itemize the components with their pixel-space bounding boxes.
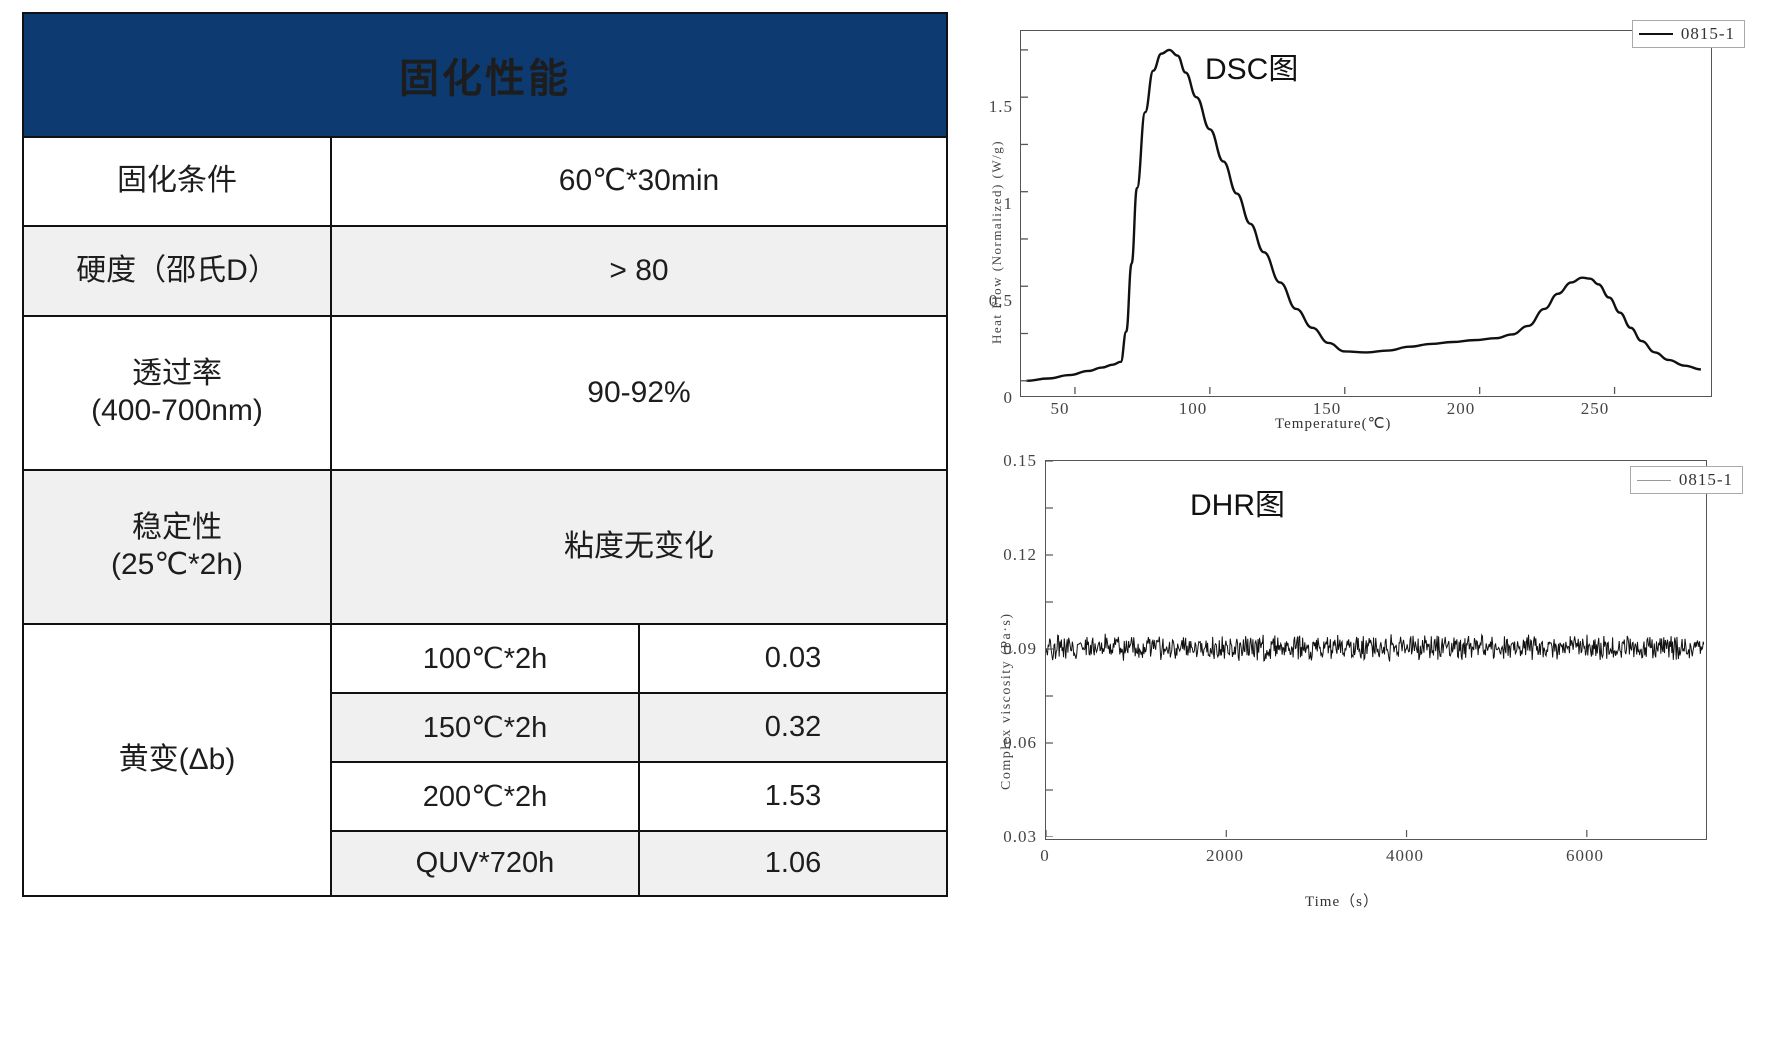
dhr-y-tick: 0.06 <box>975 733 1037 753</box>
table-title-row: 固化性能 <box>23 13 947 137</box>
dhr-y-tick: 0.03 <box>975 827 1037 847</box>
table-title: 固化性能 <box>23 13 947 137</box>
dhr-legend: 0815-1 <box>1630 466 1743 494</box>
dhr-curve <box>1046 461 1704 837</box>
dsc-y-axis-label: Heat Flow (Normalized) (W/g) <box>989 140 1005 344</box>
row-label-stability-line1: 稳定性 <box>28 510 326 547</box>
dhr-x-axis-label: Time（s） <box>1305 890 1379 911</box>
yellowing-value: 0.32 <box>639 693 947 762</box>
dhr-title: DHR图 <box>1190 480 1285 524</box>
yellowing-condition: 150℃*2h <box>331 693 639 762</box>
row-label-transmittance: 透过率 (400-700nm) <box>23 316 331 470</box>
yellowing-value: 0.03 <box>639 624 947 693</box>
table-row: 稳定性 (25℃*2h) 粘度无变化 <box>23 470 947 624</box>
row-value-curing-condition: 60℃*30min <box>331 137 947 226</box>
dsc-x-tick: 150 <box>1297 399 1357 419</box>
dsc-legend: 0815-1 <box>1632 20 1745 48</box>
table-row: 透过率 (400-700nm) 90-92% <box>23 316 947 470</box>
dhr-legend-line-icon <box>1637 480 1671 481</box>
dsc-plot-area <box>1020 30 1712 397</box>
dsc-x-tick: 50 <box>1030 399 1090 419</box>
yellowing-value: 1.06 <box>639 831 947 896</box>
dsc-legend-label: 0815-1 <box>1681 24 1735 44</box>
dsc-curve <box>1021 31 1709 394</box>
dhr-y-tick: 0.09 <box>975 639 1037 659</box>
yellowing-condition: 200℃*2h <box>331 762 639 831</box>
dsc-chart: DSC图 0815-1 Heat Flow (Normalized) (W/g)… <box>975 14 1751 434</box>
dhr-y-tick: 0.12 <box>975 545 1037 565</box>
row-label-stability: 稳定性 (25℃*2h) <box>23 470 331 624</box>
dhr-x-tick: 6000 <box>1555 846 1615 866</box>
slide-root: 固化性能 固化条件 60℃*30min 硬度（邵氏D） > 80 透过率 (40… <box>0 0 1766 1041</box>
row-label-yellowing: 黄变(Δb) <box>23 624 331 896</box>
row-label-curing-condition: 固化条件 <box>23 137 331 226</box>
dhr-x-tick: 2000 <box>1195 846 1255 866</box>
dsc-y-tick: 0.5 <box>967 291 1013 311</box>
row-label-transmittance-line1: 透过率 <box>28 356 326 393</box>
dhr-x-tick: 4000 <box>1375 846 1435 866</box>
dsc-x-tick: 200 <box>1431 399 1491 419</box>
dsc-x-tick: 250 <box>1565 399 1625 419</box>
dsc-x-tick: 100 <box>1163 399 1223 419</box>
table-row: 固化条件 60℃*30min <box>23 137 947 226</box>
dhr-legend-label: 0815-1 <box>1679 470 1733 490</box>
dsc-y-tick: 1.5 <box>967 97 1013 117</box>
table-row: 硬度（邵氏D） > 80 <box>23 226 947 315</box>
dhr-y-tick: 0.15 <box>975 451 1037 471</box>
yellowing-condition: QUV*720h <box>331 831 639 896</box>
table-row: 黄变(Δb) 100℃*2h 0.03 <box>23 624 947 693</box>
yellowing-value: 1.53 <box>639 762 947 831</box>
dhr-chart: DHR图 0815-1 Complex viscosity (Pa·s) Tim… <box>975 450 1751 1028</box>
row-label-stability-line2: (25℃*2h) <box>28 547 326 584</box>
row-value-hardness: > 80 <box>331 226 947 315</box>
yellowing-condition: 100℃*2h <box>331 624 639 693</box>
dsc-y-tick: 0 <box>967 388 1013 408</box>
dsc-y-tick: 1 <box>967 194 1013 214</box>
dhr-x-tick: 0 <box>1015 846 1075 866</box>
row-label-transmittance-line2: (400-700nm) <box>28 393 326 430</box>
dsc-title: DSC图 <box>1205 44 1298 88</box>
curing-performance-table: 固化性能 固化条件 60℃*30min 硬度（邵氏D） > 80 透过率 (40… <box>22 12 948 897</box>
row-value-transmittance: 90-92% <box>331 316 947 470</box>
dhr-plot-area <box>1045 460 1707 840</box>
row-value-stability: 粘度无变化 <box>331 470 947 624</box>
dsc-legend-line-icon <box>1639 33 1673 35</box>
row-label-hardness: 硬度（邵氏D） <box>23 226 331 315</box>
